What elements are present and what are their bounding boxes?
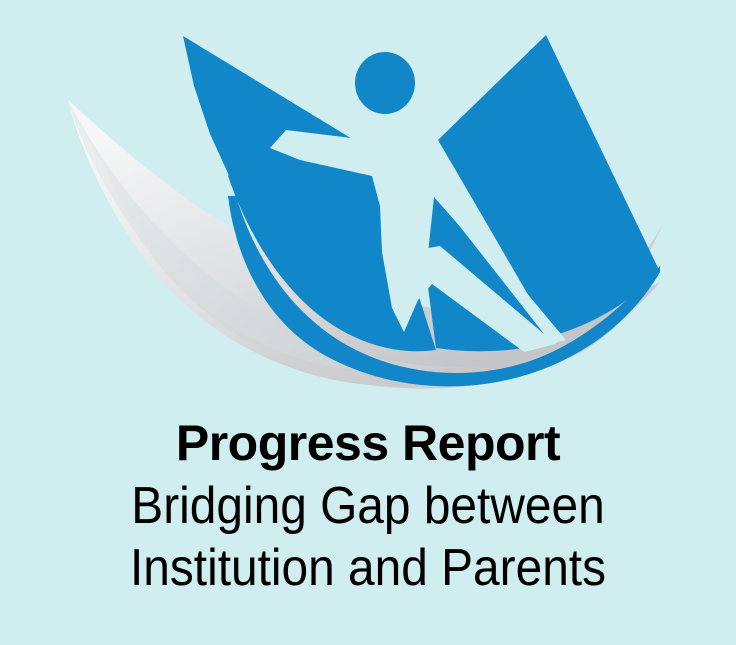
page-title: Progress Report <box>0 418 736 476</box>
person-reading-book-logo <box>0 0 736 430</box>
subtitle-line-1: Bridging Gap between <box>29 480 706 542</box>
title-block: Progress Report Bridging Gap between Ins… <box>0 418 736 604</box>
report-cover-page: Progress Report Bridging Gap between Ins… <box>0 0 736 645</box>
head-circle <box>355 52 415 114</box>
subtitle-line-2: Institution and Parents <box>29 542 706 604</box>
